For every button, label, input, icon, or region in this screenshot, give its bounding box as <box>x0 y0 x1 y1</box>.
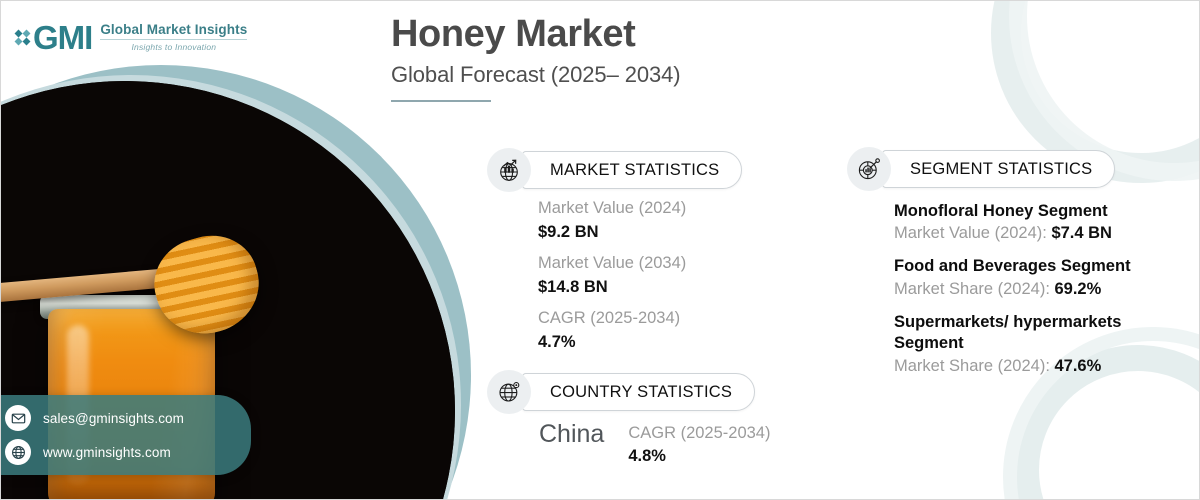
contact-email: sales@gminsights.com <box>43 411 184 426</box>
segment-metric-label: Market Share (2024): <box>894 280 1055 298</box>
segment-metric-label: Market Value (2024): <box>894 224 1051 242</box>
globe-chart-icon <box>487 148 531 192</box>
segment-statistics-label: SEGMENT STATISTICS <box>882 150 1115 188</box>
envelope-icon <box>5 405 31 431</box>
market-statistics-badge[interactable]: MARKET STATISTICS <box>487 148 742 192</box>
segment-item: Monofloral Honey Segment Market Value (2… <box>894 201 1194 246</box>
contact-website: www.gminsights.com <box>43 445 171 460</box>
infographic-canvas: GMI Global Market Insights Insights to I… <box>0 0 1200 500</box>
segment-name: Food and Beverages Segment <box>894 256 1194 277</box>
title-underline <box>391 100 491 102</box>
market-cagr-label: CAGR (2025-2034) <box>538 307 686 331</box>
page-subtitle: Global Forecast (2025– 2034) <box>391 62 681 88</box>
logo-tagline: Insights to Innovation <box>100 42 247 52</box>
contact-panel: sales@gminsights.com www.gminsights.com <box>0 395 251 475</box>
segment-metric-value: 47.6% <box>1055 357 1102 375</box>
country-statistics-list: China CAGR (2025-2034) 4.8% <box>539 419 770 468</box>
market-cagr-value: 4.7% <box>538 331 686 355</box>
pie-chart-target-icon <box>847 147 891 191</box>
country-statistics-label: COUNTRY STATISTICS <box>522 373 755 411</box>
logo-divider <box>100 39 247 40</box>
logo-wordmark: Global Market Insights Insights to Innov… <box>100 22 247 54</box>
segment-metric: Market Share (2024): 69.2% <box>894 278 1194 302</box>
segment-metric: Market Value (2024): $7.4 BN <box>894 222 1194 246</box>
country-cagr-value: 4.8% <box>628 445 770 468</box>
title-block: Honey Market Global Forecast (2025– 2034… <box>391 13 681 102</box>
market-value-2024-value: $9.2 BN <box>538 221 686 245</box>
globe-pin-icon <box>487 370 531 414</box>
contact-email-row[interactable]: sales@gminsights.com <box>5 405 239 431</box>
logo-mark: GMI <box>15 21 92 54</box>
contact-website-row[interactable]: www.gminsights.com <box>5 439 239 465</box>
segment-metric-label: Market Share (2024): <box>894 357 1055 375</box>
segment-metric-value: $7.4 BN <box>1051 224 1112 242</box>
segment-statistics-list: Monofloral Honey Segment Market Value (2… <box>894 201 1194 379</box>
country-statistics-badge[interactable]: COUNTRY STATISTICS <box>487 370 755 414</box>
market-value-2034-value: $14.8 BN <box>538 276 686 300</box>
segment-metric: Market Share (2024): 47.6% <box>894 355 1194 379</box>
brand-logo[interactable]: GMI Global Market Insights Insights to I… <box>15 21 247 54</box>
segment-item: Food and Beverages Segment Market Share … <box>894 256 1194 301</box>
segment-statistics-badge[interactable]: SEGMENT STATISTICS <box>847 147 1115 191</box>
country-cagr-label: CAGR (2025-2034) <box>628 422 770 445</box>
segment-item: Supermarkets/ hypermarkets Segment Marke… <box>894 312 1194 379</box>
segment-name: Monofloral Honey Segment <box>894 201 1194 222</box>
market-statistics-label: MARKET STATISTICS <box>522 151 742 189</box>
country-cagr-block: CAGR (2025-2034) 4.8% <box>628 419 770 468</box>
segment-name: Supermarkets/ hypermarkets Segment <box>894 312 1194 355</box>
logo-initials: GMI <box>33 21 92 54</box>
logo-company-name: Global Market Insights <box>100 22 247 37</box>
globe-icon <box>5 439 31 465</box>
country-name: China <box>539 419 604 450</box>
segment-metric-value: 69.2% <box>1055 280 1102 298</box>
page-title: Honey Market <box>391 13 681 57</box>
market-value-2024-label: Market Value (2024) <box>538 197 686 221</box>
diamond-cluster-icon <box>15 30 30 45</box>
market-statistics-list: Market Value (2024) $9.2 BN Market Value… <box>538 197 686 355</box>
market-value-2034-label: Market Value (2034) <box>538 252 686 276</box>
